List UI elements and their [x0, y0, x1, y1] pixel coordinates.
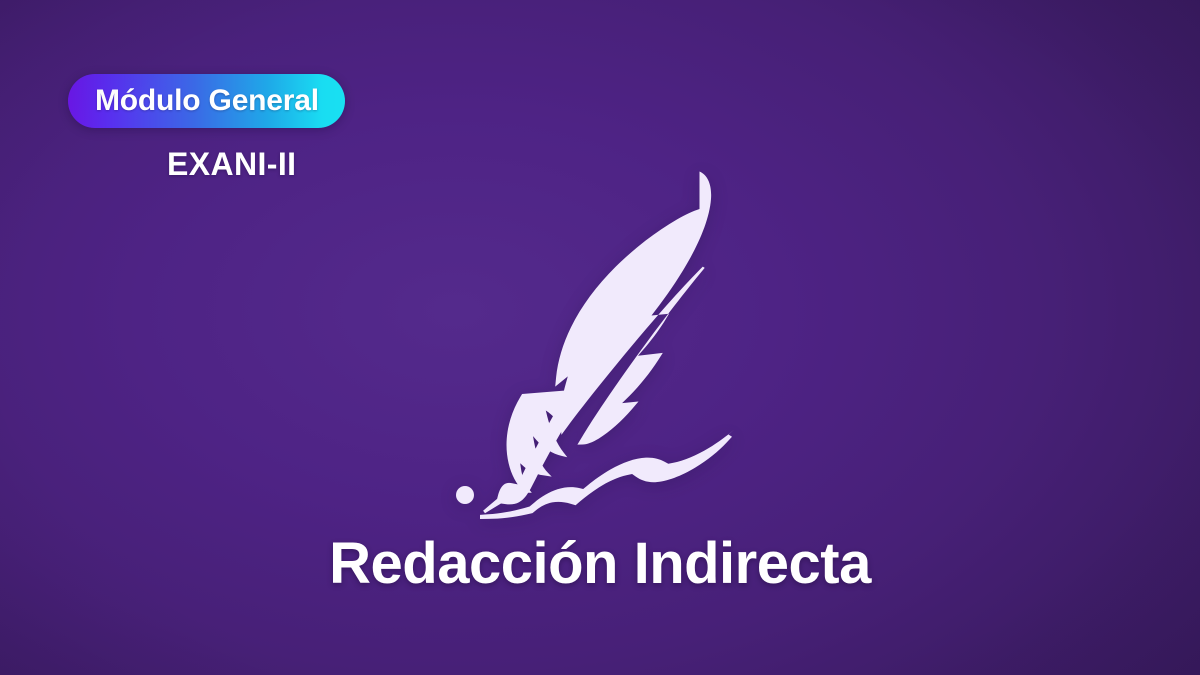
quill-pen-icon — [440, 160, 760, 520]
module-badge-label: Módulo General — [95, 86, 319, 116]
exam-code-label: EXANI-II — [167, 148, 296, 180]
module-badge[interactable]: Módulo General — [68, 74, 345, 128]
slide-canvas: Módulo General EXANI-II Redacción Indire… — [0, 0, 1200, 675]
page-title: Redacción Indirecta — [0, 534, 1200, 595]
